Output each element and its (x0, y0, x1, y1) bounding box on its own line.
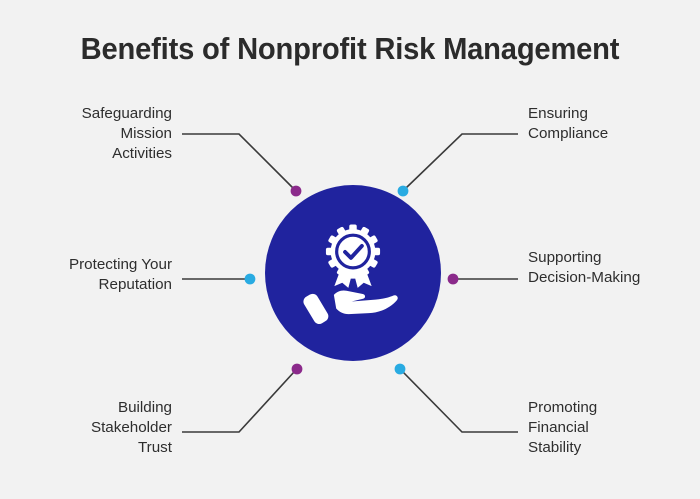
connector-dot-supporting-decision-making (448, 274, 459, 285)
infographic-canvas: Benefits of Nonprofit Risk Management (0, 0, 700, 499)
connector-safeguarding-mission-activities (182, 134, 293, 188)
connector-dot-promoting-financial-stability (395, 364, 406, 375)
connector-promoting-financial-stability (403, 372, 518, 432)
connector-dot-building-stakeholder-trust (292, 364, 303, 375)
center-circle (265, 185, 441, 361)
connector-dot-ensuring-compliance (398, 186, 409, 197)
hand-holding-award-badge-icon (297, 217, 409, 329)
benefit-label-protecting-your-reputation[interactable]: Protecting Your Reputation (0, 255, 172, 295)
page-title: Benefits of Nonprofit Risk Management (21, 32, 679, 66)
benefit-label-building-stakeholder-trust[interactable]: Building Stakeholder Trust (0, 398, 172, 458)
connector-ensuring-compliance (406, 134, 518, 188)
benefit-label-promoting-financial-stability[interactable]: Promoting Financial Stability (528, 398, 700, 458)
benefit-label-supporting-decision-making[interactable]: Supporting Decision-Making (528, 248, 700, 288)
connector-dot-safeguarding-mission-activities (291, 186, 302, 197)
benefit-label-ensuring-compliance[interactable]: Ensuring Compliance (528, 104, 700, 144)
connector-dot-protecting-your-reputation (245, 274, 256, 285)
connector-building-stakeholder-trust (182, 372, 294, 432)
benefit-label-safeguarding-mission-activities[interactable]: Safeguarding Mission Activities (0, 104, 172, 164)
